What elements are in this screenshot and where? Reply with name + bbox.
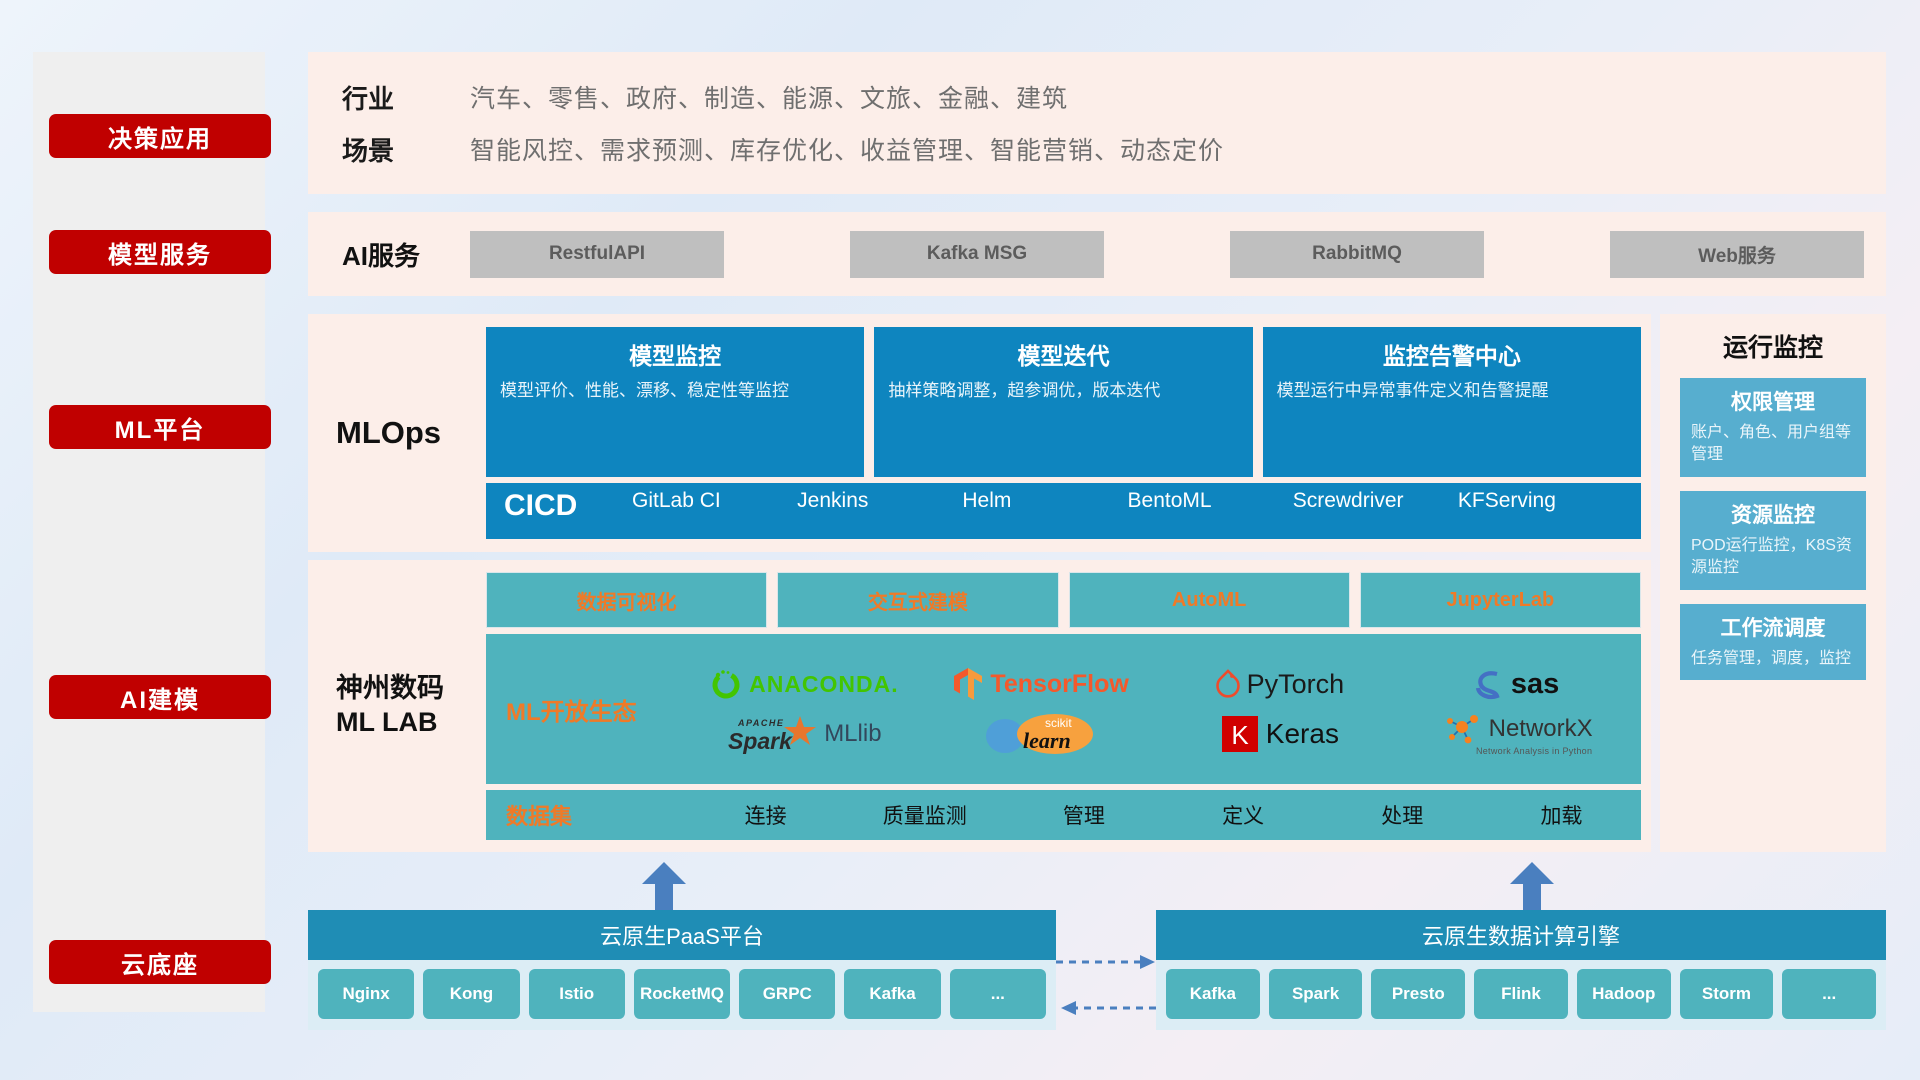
compute-chip-kafka[interactable]: Kafka xyxy=(1166,969,1260,1019)
ml-ecosystem-label: ML开放生态 xyxy=(506,692,686,727)
application-labels: 行业 场景 xyxy=(342,71,470,175)
card-title: 资源监控 xyxy=(1691,499,1855,529)
tool-chip-label: 交互式建模 xyxy=(868,586,968,615)
mllib-wordmark: MLlib xyxy=(824,720,881,748)
card-title: 监控告警中心 xyxy=(1277,337,1627,371)
card-desc: 任务管理，调度，监控 xyxy=(1691,648,1855,670)
scikit-learn-mark: scikit learn xyxy=(983,710,1101,758)
anaconda-logo: ANACONDA. xyxy=(709,667,899,701)
monitor-card-permission[interactable]: 权限管理 账户、角色、用户组等管理 xyxy=(1680,378,1866,477)
paas-chip-istio[interactable]: Istio xyxy=(529,969,625,1019)
tensorflow-wordmark: TensorFlow xyxy=(990,670,1128,699)
ai-service-label: AI服务 xyxy=(342,236,470,273)
cicd-title: CICD xyxy=(504,489,632,522)
compute-chip-storm[interactable]: Storm xyxy=(1680,969,1774,1019)
paas-chip-kafka[interactable]: Kafka xyxy=(844,969,940,1019)
data-compute-engine-title: 云原生数据计算引擎 xyxy=(1156,910,1886,960)
dataset-item-connect[interactable]: 连接 xyxy=(686,800,845,830)
keras-wordmark: Keras xyxy=(1266,718,1339,750)
dataset-row: 数据集 连接 质量监测 管理 定义 处理 加载 xyxy=(486,790,1641,840)
sas-mark xyxy=(1475,668,1505,700)
anaconda-wordmark: ANACONDA. xyxy=(749,671,899,698)
stage-tag-ml-platform[interactable]: ML平台 xyxy=(49,405,271,449)
stage-tag-model-service[interactable]: 模型服务 xyxy=(49,230,271,274)
card-title: 权限管理 xyxy=(1691,386,1855,416)
networkx-mark xyxy=(1442,712,1484,746)
cicd-item-bentoml[interactable]: BentoML xyxy=(1128,489,1293,513)
stage-tag-decision-app[interactable]: 决策应用 xyxy=(49,114,271,158)
compute-chip-more[interactable]: ... xyxy=(1782,969,1876,1019)
application-values: 汽车、零售、政府、制造、能源、文旅、金融、建筑 智能风控、需求预测、库存优化、收… xyxy=(470,71,1224,175)
scenario-list: 智能风控、需求预测、库存优化、收益管理、智能营销、动态定价 xyxy=(470,123,1224,175)
networkx-wordmark: NetworkX xyxy=(1489,715,1593,743)
chip-label: Kafka xyxy=(869,985,915,1004)
tool-chip-label: JupyterLab xyxy=(1446,589,1554,612)
stage-tag-label: AI建模 xyxy=(120,680,200,715)
chip-label: Istio xyxy=(559,985,594,1004)
service-chip-label: RabbitMQ xyxy=(1312,243,1402,265)
paas-platform-block: 云原生PaaS平台 Nginx Kong Istio RocketMQ GRPC… xyxy=(308,910,1056,1030)
mlops-label: MLOps xyxy=(336,415,486,451)
tool-chip-data-visualization[interactable]: 数据可视化 xyxy=(486,572,767,628)
scikit-learn-logo: scikit learn xyxy=(983,710,1101,758)
stage-label-column xyxy=(33,52,265,1012)
compute-chip-flink[interactable]: Flink xyxy=(1474,969,1568,1019)
tool-chip-automl[interactable]: AutoML xyxy=(1069,572,1350,628)
stage-tag-cloud-base[interactable]: 云底座 xyxy=(49,940,271,984)
stage-tag-label: 模型服务 xyxy=(108,235,212,270)
architecture-diagram: 决策应用 模型服务 ML平台 AI建模 云底座 行业 场景 汽车、零售、政府、制… xyxy=(0,0,1920,1080)
networkx-logo: NetworkX Network Analysis in Python xyxy=(1442,712,1593,756)
anaconda-mark xyxy=(709,667,743,701)
chip-label: GRPC xyxy=(763,985,812,1004)
keras-logo: K Keras xyxy=(1220,714,1339,754)
tool-chip-label: AutoML xyxy=(1172,589,1246,612)
cicd-item-helm[interactable]: Helm xyxy=(962,489,1127,513)
chip-label: Kong xyxy=(450,985,493,1004)
stage-tag-label: 决策应用 xyxy=(108,119,212,154)
spark-mark: APACHE Spark xyxy=(726,712,818,756)
card-title: 模型监控 xyxy=(500,337,850,371)
mlops-card-model-monitoring[interactable]: 模型监控 模型评价、性能、漂移、稳定性等监控 xyxy=(486,327,864,477)
runtime-monitoring-panel: 运行监控 权限管理 账户、角色、用户组等管理 资源监控 POD运行监控，K8S资… xyxy=(1660,314,1886,852)
paas-chip-more[interactable]: ... xyxy=(950,969,1046,1019)
mlops-card-model-iteration[interactable]: 模型迭代 抽样策略调整，超参调优，版本迭代 xyxy=(874,327,1252,477)
ai-service-panel: AI服务 RestfulAPI Kafka MSG RabbitMQ Web服务 xyxy=(308,212,1886,296)
paas-chip-nginx[interactable]: Nginx xyxy=(318,969,414,1019)
dataset-item-management[interactable]: 管理 xyxy=(1004,800,1163,830)
stage-tag-ai-modeling[interactable]: AI建模 xyxy=(49,675,271,719)
stage-tag-label: ML平台 xyxy=(115,410,206,445)
service-chip-rabbitmq[interactable]: RabbitMQ xyxy=(1230,231,1484,278)
connector-arrows xyxy=(1056,950,1160,1022)
service-chip-label: RestfulAPI xyxy=(549,243,645,265)
dataset-item-quality-monitoring[interactable]: 质量监测 xyxy=(845,800,1004,830)
sas-wordmark: sas xyxy=(1511,668,1559,701)
data-compute-engine-block: 云原生数据计算引擎 Kafka Spark Presto Flink Hadoo… xyxy=(1156,910,1886,1030)
service-chip-web-service[interactable]: Web服务 xyxy=(1610,231,1864,278)
paas-chip-rocketmq[interactable]: RocketMQ xyxy=(634,969,730,1019)
tensorflow-mark xyxy=(954,666,984,702)
chip-label: Flink xyxy=(1501,985,1541,1004)
chip-label: RocketMQ xyxy=(640,985,724,1004)
pytorch-logo: PyTorch xyxy=(1215,668,1345,700)
svg-text:APACHE: APACHE xyxy=(737,718,784,728)
cicd-bar: CICD GitLab CI Jenkins Helm BentoML Scre… xyxy=(486,483,1641,539)
ml-lab-label: 神州数码 ML LAB xyxy=(336,672,486,740)
chip-label: Presto xyxy=(1392,985,1445,1004)
spark-mllib-logo: APACHE Spark MLlib xyxy=(726,712,881,756)
card-title: 模型迭代 xyxy=(888,337,1238,371)
mlops-panel: MLOps 模型监控 模型评价、性能、漂移、稳定性等监控 模型迭代 抽样策略调整… xyxy=(308,314,1651,552)
dataset-item-loading[interactable]: 加载 xyxy=(1482,800,1641,830)
card-desc: POD运行监控，K8S资源监控 xyxy=(1691,535,1855,580)
sas-logo: sas xyxy=(1475,668,1559,701)
runtime-monitoring-title: 运行监控 xyxy=(1660,314,1886,364)
chip-label: ... xyxy=(1822,985,1836,1004)
paas-chip-kong[interactable]: Kong xyxy=(423,969,519,1019)
mlops-card-alert-center[interactable]: 监控告警中心 模型运行中异常事件定义和告警提醒 xyxy=(1263,327,1641,477)
service-chip-label: Web服务 xyxy=(1698,241,1776,268)
svg-text:K: K xyxy=(1231,720,1249,750)
service-chip-restfulapi[interactable]: RestfulAPI xyxy=(470,231,724,278)
compute-chip-spark[interactable]: Spark xyxy=(1269,969,1363,1019)
tool-chip-interactive-modeling[interactable]: 交互式建模 xyxy=(777,572,1058,628)
compute-chip-hadoop[interactable]: Hadoop xyxy=(1577,969,1671,1019)
chip-label: Storm xyxy=(1702,985,1751,1004)
chip-label: Nginx xyxy=(343,985,390,1004)
service-chip-label: Kafka MSG xyxy=(927,243,1027,265)
tensorflow-logo: TensorFlow xyxy=(954,666,1128,702)
service-chip-kafka-msg[interactable]: Kafka MSG xyxy=(850,231,1104,278)
arrow-up-paas xyxy=(640,862,688,914)
scenario-label: 场景 xyxy=(342,123,470,175)
cicd-item-kfserving[interactable]: KFServing xyxy=(1458,489,1623,513)
card-desc: 模型运行中异常事件定义和告警提醒 xyxy=(1277,379,1627,402)
cicd-item-screwdriver[interactable]: Screwdriver xyxy=(1293,489,1458,513)
dataset-item-processing[interactable]: 处理 xyxy=(1323,800,1482,830)
industry-list: 汽车、零售、政府、制造、能源、文旅、金融、建筑 xyxy=(470,71,1224,123)
svg-text:Spark: Spark xyxy=(728,728,793,754)
tool-chip-label: 数据可视化 xyxy=(577,586,677,615)
application-panel: 行业 场景 汽车、零售、政府、制造、能源、文旅、金融、建筑 智能风控、需求预测、… xyxy=(308,52,1886,194)
ml-ecosystem-row: ML开放生态 ANACONDA. xyxy=(486,634,1641,784)
ml-lab-panel: 神州数码 ML LAB 数据可视化 交互式建模 AutoML JupyterLa… xyxy=(308,560,1651,852)
chip-label: Spark xyxy=(1292,985,1339,1004)
card-desc: 账户、角色、用户组等管理 xyxy=(1691,422,1855,467)
paas-chip-grpc[interactable]: GRPC xyxy=(739,969,835,1019)
paas-platform-title: 云原生PaaS平台 xyxy=(308,910,1056,960)
card-desc: 模型评价、性能、漂移、稳定性等监控 xyxy=(500,379,850,402)
svg-text:learn: learn xyxy=(1023,728,1071,753)
networkx-tagline: Network Analysis in Python xyxy=(1476,746,1592,756)
ml-lab-label-line2: ML LAB xyxy=(336,706,486,740)
monitor-card-workflow[interactable]: 工作流调度 任务管理，调度，监控 xyxy=(1680,604,1866,680)
chip-label: Hadoop xyxy=(1592,985,1655,1004)
dataset-label: 数据集 xyxy=(506,799,686,831)
arrow-up-compute xyxy=(1508,862,1556,914)
industry-label: 行业 xyxy=(342,71,470,123)
cicd-item-jenkins[interactable]: Jenkins xyxy=(797,489,962,513)
dataset-item-definition[interactable]: 定义 xyxy=(1164,800,1323,830)
cicd-item-gitlab-ci[interactable]: GitLab CI xyxy=(632,489,797,513)
keras-mark: K xyxy=(1220,714,1260,754)
pytorch-mark xyxy=(1215,668,1241,700)
ml-lab-label-line1: 神州数码 xyxy=(336,672,486,706)
card-desc: 抽样策略调整，超参调优，版本迭代 xyxy=(888,379,1238,402)
compute-chip-presto[interactable]: Presto xyxy=(1371,969,1465,1019)
pytorch-wordmark: PyTorch xyxy=(1247,669,1345,700)
chip-label: Kafka xyxy=(1190,985,1236,1004)
tool-chip-jupyterlab[interactable]: JupyterLab xyxy=(1360,572,1641,628)
card-title: 工作流调度 xyxy=(1691,612,1855,642)
stage-tag-label: 云底座 xyxy=(121,945,199,980)
monitor-card-resource[interactable]: 资源监控 POD运行监控，K8S资源监控 xyxy=(1680,491,1866,590)
chip-label: ... xyxy=(991,985,1005,1004)
